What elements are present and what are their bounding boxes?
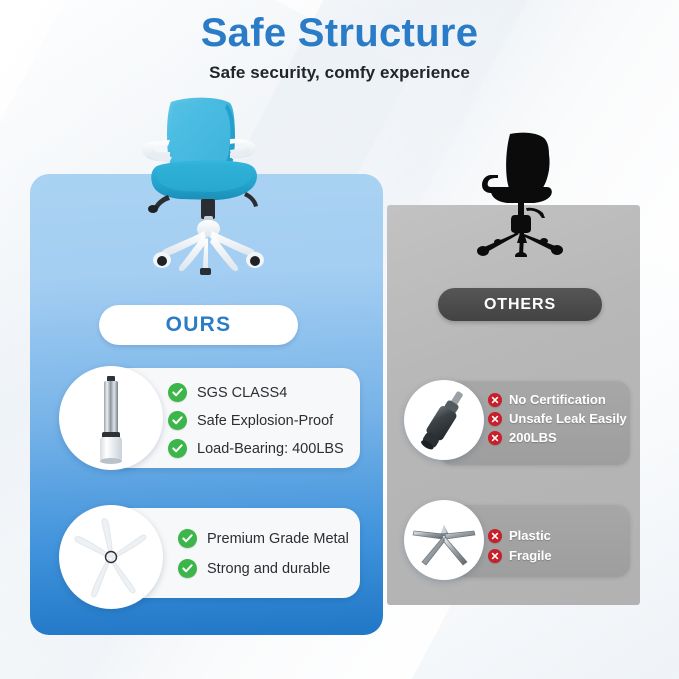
feature-text: 200LBS — [509, 430, 557, 445]
feature-text: SGS CLASS4 — [197, 385, 287, 401]
feature-text: No Certification — [509, 392, 606, 407]
x-circle-icon — [488, 529, 502, 543]
feature-text: Load-Bearing: 400LBS — [197, 441, 344, 457]
others-badge-label: OTHERS — [484, 296, 556, 314]
feature-item: Load-Bearing: 400LBS — [168, 439, 344, 458]
x-circle-icon — [488, 431, 502, 445]
feature-item: SGS CLASS4 — [168, 383, 344, 402]
ours-badge: OURS — [99, 305, 298, 345]
check-circle-icon — [168, 439, 187, 458]
feature-text: Unsafe Leak Easily — [509, 411, 627, 426]
feature-item: Safe Explosion-Proof — [168, 411, 344, 430]
page-subtitle: Safe security, comfy experience — [0, 63, 679, 83]
infographic-root: Safe Structure Safe security, comfy expe… — [0, 0, 679, 679]
white-five-star-base-thumb — [59, 505, 163, 609]
others-feature-list: Plastic Fragile — [488, 528, 552, 563]
feature-item: Plastic — [488, 528, 552, 543]
feature-text: Safe Explosion-Proof — [197, 413, 333, 429]
check-circle-icon — [178, 559, 197, 578]
ours-feature-list: Premium Grade Metal Strong and durable — [178, 529, 349, 578]
ours-feature-list: SGS CLASS4 Safe Explosion-Proof Load-Bea… — [168, 383, 344, 458]
x-circle-icon — [488, 393, 502, 407]
header: Safe Structure Safe security, comfy expe… — [0, 10, 679, 83]
others-badge: OTHERS — [438, 288, 602, 321]
feature-text: Fragile — [509, 548, 552, 563]
feature-text: Premium Grade Metal — [207, 531, 349, 547]
feature-item: No Certification — [488, 392, 627, 407]
check-circle-icon — [168, 411, 187, 430]
x-circle-icon — [488, 412, 502, 426]
black-office-chair-silhouette — [452, 122, 587, 257]
ours-badge-label: OURS — [166, 313, 232, 337]
check-circle-icon — [178, 529, 197, 548]
others-feature-list: No Certification Unsafe Leak Easily 200L… — [488, 392, 627, 445]
blue-mesh-office-chair — [124, 92, 294, 277]
check-circle-icon — [168, 383, 187, 402]
page-title: Safe Structure — [0, 10, 679, 56]
metal-five-star-base-thumb — [404, 500, 484, 580]
feature-text: Strong and durable — [207, 561, 330, 577]
feature-item: Unsafe Leak Easily — [488, 411, 627, 426]
feature-item: Premium Grade Metal — [178, 529, 349, 548]
gas-cylinder-dark-thumb — [404, 380, 484, 460]
feature-item: Strong and durable — [178, 559, 349, 578]
gas-cylinder-chrome-thumb — [59, 366, 163, 470]
feature-item: Fragile — [488, 548, 552, 563]
x-circle-icon — [488, 549, 502, 563]
feature-item: 200LBS — [488, 430, 627, 445]
feature-text: Plastic — [509, 528, 551, 543]
